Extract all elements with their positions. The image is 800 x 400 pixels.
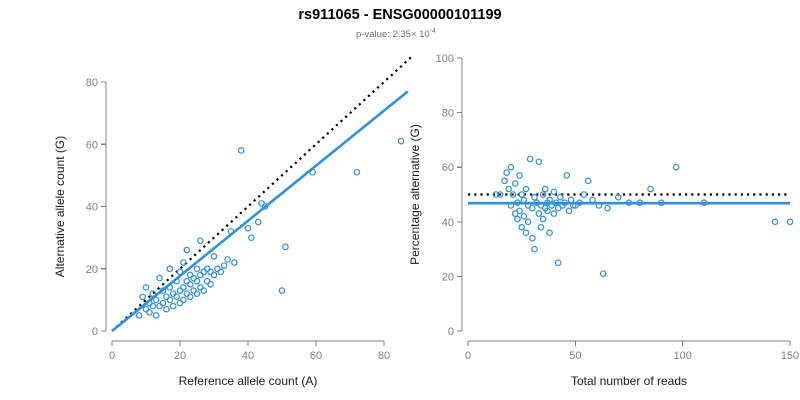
x-axis-title: Total number of reads — [571, 374, 687, 388]
x-tick-label: 0 — [465, 350, 471, 362]
data-point — [184, 279, 189, 284]
data-point — [147, 310, 152, 315]
y-tick-label: 80 — [442, 108, 454, 120]
reference-line — [112, 57, 411, 331]
data-point — [211, 254, 216, 259]
x-tick-label: 100 — [673, 350, 691, 362]
y-tick-label: 0 — [448, 326, 454, 338]
x-tick-label: 40 — [242, 350, 254, 362]
page-title: rs911065 - ENSG00000101199 — [298, 7, 501, 23]
data-point — [523, 186, 528, 191]
data-point — [150, 303, 155, 308]
data-point — [525, 219, 530, 224]
data-point — [508, 165, 513, 170]
data-point — [215, 266, 220, 271]
data-point — [558, 195, 563, 200]
data-point — [218, 269, 223, 274]
data-point — [150, 291, 155, 296]
y-axis-title: Alternative allele count (G) — [53, 136, 67, 277]
x-tick-label: 50 — [569, 350, 581, 362]
data-point — [201, 288, 206, 293]
data-point — [154, 297, 159, 302]
data-point — [648, 186, 653, 191]
data-point — [174, 294, 179, 299]
right-panel-percentage: 020406080100050100150Total number of rea… — [408, 53, 799, 388]
y-tick-label: 20 — [442, 271, 454, 283]
data-point — [517, 173, 522, 178]
fit-line — [112, 91, 408, 331]
data-point — [506, 186, 511, 191]
data-point — [521, 197, 526, 202]
data-point — [772, 219, 777, 224]
data-point — [568, 197, 573, 202]
y-tick-label: 100 — [436, 53, 454, 65]
x-tick-label: 150 — [781, 350, 799, 362]
data-point — [547, 230, 552, 235]
data-point — [239, 148, 244, 153]
data-point — [530, 205, 535, 210]
data-point — [171, 303, 176, 308]
y-tick-label: 60 — [86, 139, 98, 151]
data-point — [551, 211, 556, 216]
p-value-text: p-value: 2.35× 10 — [356, 29, 430, 40]
data-point — [164, 307, 169, 312]
y-tick-label: 60 — [442, 162, 454, 174]
data-point — [787, 219, 792, 224]
data-point — [140, 294, 145, 299]
y-axis-title: Percentage alternative (G) — [408, 124, 422, 265]
data-point — [208, 269, 213, 274]
data-point — [232, 260, 237, 265]
data-point — [157, 303, 162, 308]
left-panel-allele-counts: 020406080020406080Reference allele count… — [53, 57, 411, 388]
data-point — [256, 219, 261, 224]
data-point — [205, 279, 210, 284]
figure-canvas: rs911065 - ENSG00000101199 p-value: 2.35… — [0, 0, 800, 400]
data-point — [211, 272, 216, 277]
data-point — [528, 156, 533, 161]
x-axis-line — [112, 341, 384, 346]
x-tick-label: 0 — [109, 350, 115, 362]
data-point — [181, 297, 186, 302]
data-point — [160, 300, 165, 305]
data-point — [513, 181, 518, 186]
data-point — [536, 159, 541, 164]
y-tick-label: 20 — [86, 264, 98, 276]
data-point — [143, 307, 148, 312]
data-point — [543, 186, 548, 191]
data-point — [586, 178, 591, 183]
data-point — [283, 244, 288, 249]
data-point — [532, 246, 537, 251]
data-point — [157, 275, 162, 280]
data-point — [198, 272, 203, 277]
data-point — [564, 173, 569, 178]
data-point — [191, 288, 196, 293]
data-point — [504, 170, 509, 175]
data-point — [521, 214, 526, 219]
data-point — [674, 165, 679, 170]
data-point — [188, 272, 193, 277]
data-point — [310, 170, 315, 175]
data-point — [194, 291, 199, 296]
data-point — [259, 201, 264, 206]
data-point — [538, 225, 543, 230]
data-point — [201, 269, 206, 274]
y-axis-line — [101, 82, 106, 331]
data-point — [515, 216, 520, 221]
data-point — [194, 279, 199, 284]
data-point — [208, 282, 213, 287]
data-point — [502, 178, 507, 183]
y-tick-label: 80 — [86, 77, 98, 89]
data-point — [184, 247, 189, 252]
data-point — [279, 288, 284, 293]
data-point — [167, 266, 172, 271]
x-axis-title: Reference allele count (A) — [179, 374, 318, 388]
x-tick-label: 80 — [378, 350, 390, 362]
data-point — [523, 230, 528, 235]
x-tick-label: 20 — [174, 350, 186, 362]
data-point — [566, 208, 571, 213]
data-point — [225, 257, 230, 262]
y-tick-label: 40 — [442, 217, 454, 229]
data-point — [536, 211, 541, 216]
data-point — [530, 235, 535, 240]
data-point — [167, 297, 172, 302]
data-point — [188, 282, 193, 287]
data-point — [222, 263, 227, 268]
data-point — [181, 285, 186, 290]
data-point — [171, 291, 176, 296]
p-value-exponent: -4 — [430, 28, 436, 35]
data-point — [590, 197, 595, 202]
data-points — [137, 138, 404, 318]
data-point — [517, 208, 522, 213]
data-point — [540, 216, 545, 221]
data-point — [191, 275, 196, 280]
data-point — [605, 205, 610, 210]
data-point — [177, 300, 182, 305]
data-point — [551, 189, 556, 194]
data-point — [164, 294, 169, 299]
data-point — [198, 238, 203, 243]
data-point — [601, 271, 606, 276]
data-point — [137, 313, 142, 318]
data-point — [198, 285, 203, 290]
x-tick-label: 60 — [310, 350, 322, 362]
data-point — [519, 225, 524, 230]
data-point — [205, 266, 210, 271]
p-value-subtitle: p-value: 2.35× 10-4 — [356, 28, 436, 40]
data-point — [249, 235, 254, 240]
data-point — [177, 288, 182, 293]
data-point — [184, 291, 189, 296]
data-point — [555, 260, 560, 265]
y-tick-label: 40 — [86, 202, 98, 214]
data-point — [154, 313, 159, 318]
data-point — [532, 195, 537, 200]
data-points — [493, 156, 792, 276]
data-point — [354, 170, 359, 175]
data-point — [398, 138, 403, 143]
data-point — [194, 266, 199, 271]
y-axis-line — [457, 58, 462, 331]
data-point — [143, 285, 148, 290]
x-axis-line — [468, 341, 790, 346]
data-point — [188, 294, 193, 299]
y-tick-label: 0 — [92, 326, 98, 338]
data-point — [245, 226, 250, 231]
